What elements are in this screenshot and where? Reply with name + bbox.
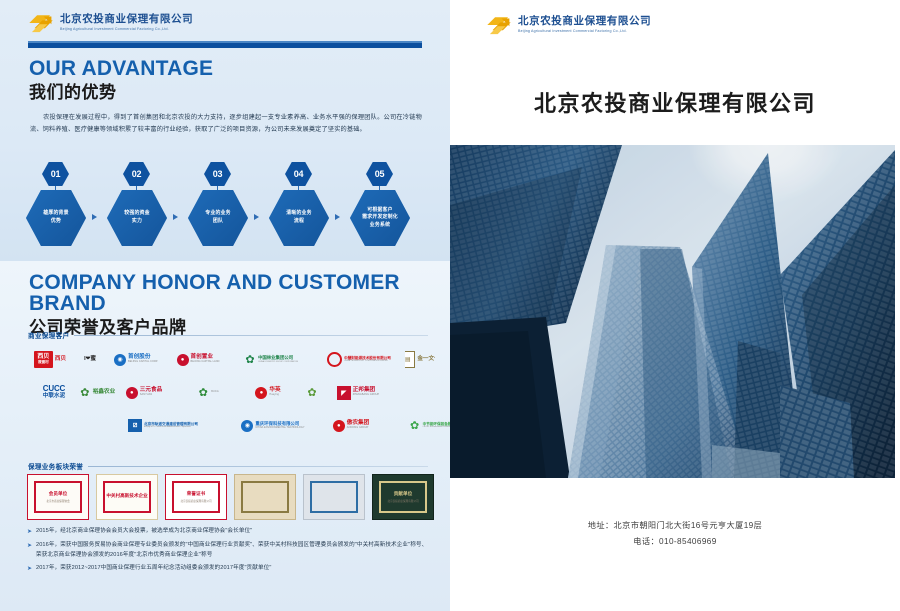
awards-subheading: 保理业务板块荣誉 xyxy=(28,461,428,471)
client-logo-row: 西贝莜面村西贝I❤蜜◉首创股份BEIJING CAPITAL CORP.●首创置… xyxy=(25,343,429,376)
client-logo: 中鹽財能源技术股份有限公司CHINA TECHNOLOGY CORPORATIO… xyxy=(313,345,405,375)
client-logo-text: 华英Huaying xyxy=(269,388,280,396)
advantage-step-04: 04清晰的业务流程 xyxy=(269,190,329,246)
step-arrow-icon xyxy=(173,214,178,220)
certificate-inner: 荣誉证书北京农投商业保理有限公司 xyxy=(172,481,220,513)
client-logo: ✿BUCG xyxy=(171,378,245,408)
client-logo-text: 裕鑫农业 xyxy=(93,390,115,396)
clients-subheading: 商业保理客户 xyxy=(28,330,428,340)
client-logo-text: I❤蜜 xyxy=(84,357,96,363)
step-arrow-icon xyxy=(335,214,340,220)
skyscraper-photo xyxy=(450,145,895,478)
client-logo: ✿裕鑫农业 xyxy=(77,378,117,408)
certificate-thumbnail: 中关村高新技术企业 xyxy=(96,474,158,520)
client-logo-symbol: ✿ xyxy=(306,387,318,399)
certificate-gallery: 会员单位北京市商业保理协会中关村高新技术企业荣誉证书北京农投商业保理有限公司贡献… xyxy=(27,474,434,520)
certificate-title: 中关村高新技术企业 xyxy=(106,493,147,499)
step-label: 可根据客户需求开发定制化业务系统 xyxy=(358,207,402,230)
client-logo-symbol: ◉ xyxy=(114,354,126,366)
client-logo-text: 中国林业集团公司CHINA FORESTRY GROUP CORPORATION xyxy=(258,356,298,363)
right-page-logo: 北京农投商业保理有限公司 Beijing Agricultural Invest… xyxy=(486,12,651,38)
awards-subheading-label: 保理业务板块荣誉 xyxy=(28,461,83,471)
client-logo-name-en: CHINA TECHNOLOGY CORPORATION LIMITED xyxy=(344,360,391,362)
client-logo: ●首创置业BEIJING CAPITAL LAND xyxy=(167,345,229,375)
client-brand-grid: 西贝莜面村西贝I❤蜜◉首创股份BEIJING CAPITAL CORP.●首创置… xyxy=(25,343,429,442)
client-logo-text: BUCG xyxy=(211,391,218,394)
company-logo-icon xyxy=(28,10,54,36)
award-bullet-text: 2017年，荣获2012~2017中国商业保理行业五周年纪念活动组委会颁发的20… xyxy=(36,564,271,574)
client-logo-mark: ◉首创股份BEIJING CAPITAL CORP. xyxy=(114,354,158,366)
client-logo: ●华英Huaying xyxy=(245,378,291,408)
honor-heading: COMPANY HONOR AND CUSTOMER BRAND 公司荣誉及客户… xyxy=(29,272,450,338)
client-logo-symbol: ✿ xyxy=(79,387,91,399)
advantage-title-cn: 我们的优势 xyxy=(29,82,213,103)
client-logo-mark: CUCC中联水泥 xyxy=(43,385,65,399)
brochure-spread: 北京农投商业保理有限公司 Beijing Agricultural Invest… xyxy=(0,0,900,611)
client-logo-name-en: BEIJING CAPITAL CORP. xyxy=(128,361,158,364)
advantage-body-text: 农投保理在发展过程中，得到了首创集团和北京农投的大力支持，逐步组建起一支专业素养… xyxy=(30,112,422,136)
client-logo: ▤金一文化 xyxy=(405,345,435,375)
client-logo-symbol: 西贝莜面村 xyxy=(34,351,53,368)
awards-subheading-rule xyxy=(88,466,428,467)
phone-line: 电话：010-85406969 xyxy=(450,534,900,550)
client-logo-text: 中鹽財能源技术股份有限公司CHINA TECHNOLOGY CORPORATIO… xyxy=(344,357,391,363)
certificate-inner xyxy=(241,481,289,513)
client-logo-symbol: ◤ xyxy=(337,386,351,400)
client-logo-symbol: ● xyxy=(333,420,345,432)
client-logo-text: 首创股份BEIJING CAPITAL CORP. xyxy=(128,355,158,363)
step-number-text: 03 xyxy=(213,169,222,179)
client-logo-mark: ⧄北京市轨道交通建设管理有限公司Beijing MTR Construction… xyxy=(128,419,198,432)
award-bullet-item: ➤2016年，荣获中国服务贸易协会商业保理专业委员会颁发的"中国商业保理行业贡献… xyxy=(27,541,431,561)
client-logo-row: ⧄北京市轨道交通建设管理有限公司Beijing MTR Construction… xyxy=(25,409,429,442)
client-logo-mark: ●傲农集团AONONG GROUP xyxy=(333,420,369,432)
certificate-inner: 贡献单位北京农投商业保理有限公司 xyxy=(379,481,427,513)
client-logo-name-en: SANYUAN xyxy=(140,394,162,397)
client-logo-symbol: ▤ xyxy=(405,351,415,368)
step-number-badge: 02 xyxy=(123,162,150,186)
client-logo-mark: ●华英Huaying xyxy=(255,387,280,399)
client-logo-text: CUCC中联水泥 xyxy=(43,385,65,399)
client-logo-text: 西贝 xyxy=(55,357,66,363)
client-logo-text: 三元食品SANYUAN xyxy=(140,388,162,396)
step-number-badge: 01 xyxy=(42,162,69,186)
right-page: 北京农投商业保理有限公司 Beijing Agricultural Invest… xyxy=(450,0,900,611)
client-logo-name-en: BEIJING CAPITAL LAND xyxy=(191,361,220,364)
client-logo-mark: ✿中国林业集团公司CHINA FORESTRY GROUP CORPORATIO… xyxy=(244,354,298,366)
advantage-body-span: 农投保理在发展过程中，得到了首创集团和北京农投的大力支持，逐步组建起一支专业素养… xyxy=(30,114,422,133)
client-logo-mark: ●三元食品SANYUAN xyxy=(126,387,162,399)
address-line: 地址：北京市朝阳门北大街16号元亨大厦19层 xyxy=(450,518,900,534)
certificate-thumbnail: 贡献单位北京农投商业保理有限公司 xyxy=(372,474,434,520)
company-logo-icon xyxy=(486,12,512,38)
certificate-inner: 中关村高新技术企业 xyxy=(103,481,151,513)
client-logo: 西贝莜面村西贝 xyxy=(25,345,75,375)
award-bullet-item: ➤2015年，经北京商业保理协会会员大会投票，被选举成为北京商业保理协会"会长单… xyxy=(27,527,431,538)
logo-name-cn: 北京农投商业保理有限公司 xyxy=(518,17,651,28)
certificate-subtitle: 北京市商业保理协会 xyxy=(46,499,69,503)
step-number-text: 04 xyxy=(294,169,303,179)
advantage-heading: OUR ADVANTAGE 我们的优势 xyxy=(29,58,213,103)
client-logo-mark: 西贝莜面村西贝 xyxy=(34,351,66,368)
step-number-text: 05 xyxy=(375,169,384,179)
client-logo-symbol: ✿ xyxy=(409,420,421,432)
certificate-thumbnail: 会员单位北京市商业保理协会 xyxy=(27,474,89,520)
client-logo-mark: ✿BUCG xyxy=(197,387,218,399)
client-logo-name-en: ZHENGBANG GROUP xyxy=(353,394,379,397)
step-number-text: 01 xyxy=(51,169,60,179)
certificate-inner: 会员单位北京市商业保理协会 xyxy=(34,481,82,513)
client-logo-mark: ◤正邦集团ZHENGBANG GROUP xyxy=(337,386,379,400)
client-logo: ◤正邦集团ZHENGBANG GROUP xyxy=(335,378,381,408)
client-logo-mark: ▤金一文化 xyxy=(405,351,435,368)
certificate-thumbnail xyxy=(303,474,365,520)
certificate-subtitle: 北京农投商业保理有限公司 xyxy=(180,499,211,503)
step-number-badge: 03 xyxy=(204,162,231,186)
logo-name-cn: 北京农投商业保理有限公司 xyxy=(60,15,193,26)
client-logo-mark: ◉重庆环保科技有限公司CHINA ENVIRONMENTAL TECHNOLOG… xyxy=(241,420,304,432)
certificate-title: 荣誉证书 xyxy=(187,491,205,497)
client-logo-text: 金一文化 xyxy=(417,357,435,363)
contact-block: 地址：北京市朝阳门北大街16号元亨大厦19层 电话：010-85406969 xyxy=(450,518,900,550)
client-logo: ✿ xyxy=(291,378,335,408)
client-logo-symbol: ● xyxy=(126,387,138,399)
certificate-title: 会员单位 xyxy=(49,491,67,497)
client-logo-mark: 中鹽財能源技术股份有限公司CHINA TECHNOLOGY CORPORATIO… xyxy=(327,352,391,367)
award-bullet-list: ➤2015年，经北京商业保理协会会员大会投票，被选举成为北京商业保理协会"会长单… xyxy=(27,527,431,578)
step-label: 专业的业务团队 xyxy=(201,210,234,225)
client-logo: ◉首创股份BEIJING CAPITAL CORP. xyxy=(105,345,167,375)
bullet-chevron-icon: ➤ xyxy=(27,527,36,538)
step-label: 清晰的业务流程 xyxy=(282,210,315,225)
left-page-logo: 北京农投商业保理有限公司 Beijing Agricultural Invest… xyxy=(28,10,193,36)
step-hexagon: 雄厚的背景优势 xyxy=(26,190,86,246)
client-logo-symbol xyxy=(327,352,342,367)
client-logo-name-cn: 金一文化 xyxy=(417,357,435,363)
client-logo-name-cn: 裕鑫农业 xyxy=(93,390,115,396)
award-bullet-text: 2016年，荣获中国服务贸易协会商业保理专业委员会颁发的"中国商业保理行业贡献奖… xyxy=(36,541,431,561)
client-logo-name-en: AONONG GROUP xyxy=(347,427,369,430)
client-logo: ◉重庆环保科技有限公司CHINA ENVIRONMENTAL TECHNOLOG… xyxy=(231,411,315,441)
cover-title: 北京农投商业保理有限公司 xyxy=(450,86,900,118)
step-hexagon: 可根据客户需求开发定制化业务系统 xyxy=(350,190,410,246)
step-hexagon: 清晰的业务流程 xyxy=(269,190,329,246)
certificate-thumbnail xyxy=(234,474,296,520)
left-page: 北京农投商业保理有限公司 Beijing Agricultural Invest… xyxy=(0,0,450,611)
client-logo-text: 首创置业BEIJING CAPITAL LAND xyxy=(191,355,220,363)
client-logo-symbol: ✿ xyxy=(197,387,209,399)
client-logo-mark: ●首创置业BEIJING CAPITAL LAND xyxy=(177,354,220,366)
step-hexagon: 较强的资金实力 xyxy=(107,190,167,246)
client-logo-mark: ✿中节能环保装备股份有限公司CECEP Environmental Protec… xyxy=(409,420,450,432)
client-logo: ✿中国林业集团公司CHINA FORESTRY GROUP CORPORATIO… xyxy=(229,345,313,375)
client-logo-mark: I❤蜜 xyxy=(84,357,96,363)
client-logo: ⧄北京市轨道交通建设管理有限公司Beijing MTR Construction… xyxy=(95,411,231,441)
client-logo-name-en: BUCG xyxy=(211,391,218,394)
client-logo-symbol: ● xyxy=(177,354,189,366)
client-logo-name-en: CHINA ENVIRONMENTAL TECHNOLOGY xyxy=(255,427,304,430)
certificate-thumbnail: 荣誉证书北京农投商业保理有限公司 xyxy=(165,474,227,520)
step-label: 雄厚的背景优势 xyxy=(39,210,72,225)
client-logo-text: 正邦集团ZHENGBANG GROUP xyxy=(353,388,379,396)
advantage-step-02: 02较强的资金实力 xyxy=(107,190,167,246)
client-logo-text: 北京市轨道交通建设管理有限公司Beijing MTR Construction … xyxy=(144,423,198,429)
advantage-step-03: 03专业的业务团队 xyxy=(188,190,248,246)
bullet-chevron-icon: ➤ xyxy=(27,564,36,575)
logo-name-en: Beijing Agricultural Investment Commerci… xyxy=(518,30,651,34)
client-logo-symbol: ✿ xyxy=(244,354,256,366)
client-logo-symbol: ◉ xyxy=(241,420,253,432)
certificate-subtitle: 北京农投商业保理有限公司 xyxy=(387,499,418,503)
logo-name-en: Beijing Agricultural Investment Commerci… xyxy=(60,28,193,32)
step-number-badge: 05 xyxy=(366,162,393,186)
clients-subheading-label: 商业保理客户 xyxy=(28,330,69,340)
client-logo-mark: ✿裕鑫农业 xyxy=(79,387,115,399)
advantage-step-01: 01雄厚的背景优势 xyxy=(26,190,86,246)
step-hexagon: 专业的业务团队 xyxy=(188,190,248,246)
clients-subheading-rule xyxy=(74,335,428,336)
client-logo-text: 傲农集团AONONG GROUP xyxy=(347,421,369,429)
client-logo-name-cn: 西贝 xyxy=(55,357,66,363)
client-logo-name-en: CHINA FORESTRY GROUP CORPORATION xyxy=(258,361,298,363)
bullet-chevron-icon: ➤ xyxy=(27,541,36,552)
client-logo: CUCC中联水泥 xyxy=(31,378,77,408)
client-logo: ●傲农集团AONONG GROUP xyxy=(315,411,387,441)
client-logo-text: 重庆环保科技有限公司CHINA ENVIRONMENTAL TECHNOLOGY xyxy=(255,422,304,429)
client-logo-name-en: CECEP Environmental Protection Equipment… xyxy=(423,426,450,428)
advantage-step-05: 05可根据客户需求开发定制化业务系统 xyxy=(350,190,410,246)
client-logo-text: 中节能环保装备股份有限公司CECEP Environmental Protect… xyxy=(423,423,450,429)
step-number-text: 02 xyxy=(132,169,141,179)
client-logo-symbol: ● xyxy=(255,387,267,399)
client-logo: ●三元食品SANYUAN xyxy=(117,378,171,408)
client-logo: ✿中节能环保装备股份有限公司CECEP Environmental Protec… xyxy=(387,411,450,441)
client-logo-name-cn: I❤蜜 xyxy=(84,357,96,363)
honor-title-en: COMPANY HONOR AND CUSTOMER BRAND xyxy=(29,272,450,314)
award-bullet-item: ➤2017年，荣获2012~2017中国商业保理行业五周年纪念活动组委会颁发的2… xyxy=(27,564,431,575)
award-bullet-text: 2015年，经北京商业保理协会会员大会投票，被选举成为北京商业保理协会"会长单位… xyxy=(36,527,252,537)
client-logo-name-cn: 中联水泥 xyxy=(43,394,65,400)
advantage-title-en: OUR ADVANTAGE xyxy=(29,58,213,79)
client-logo-name-en: Huaying xyxy=(269,394,280,397)
client-logo-name-en: Beijing MTR Construction Administration … xyxy=(144,426,198,428)
client-logo: I❤蜜 xyxy=(75,345,105,375)
step-label: 较强的资金实力 xyxy=(120,210,153,225)
client-logo-symbol: ⧄ xyxy=(128,419,142,432)
certificate-title: 贡献单位 xyxy=(394,491,412,497)
step-arrow-icon xyxy=(254,214,259,220)
header-rule xyxy=(28,41,422,48)
client-logo-mark: ✿ xyxy=(306,387,320,399)
step-arrow-icon xyxy=(92,214,97,220)
advantage-step-flow: 01雄厚的背景优势02较强的资金实力03专业的业务团队04清晰的业务流程05可根… xyxy=(26,160,426,248)
step-number-badge: 04 xyxy=(285,162,312,186)
client-logo-row: CUCC中联水泥✿裕鑫农业●三元食品SANYUAN✿BUCG●华英Huaying… xyxy=(25,376,429,409)
certificate-inner xyxy=(310,481,358,513)
